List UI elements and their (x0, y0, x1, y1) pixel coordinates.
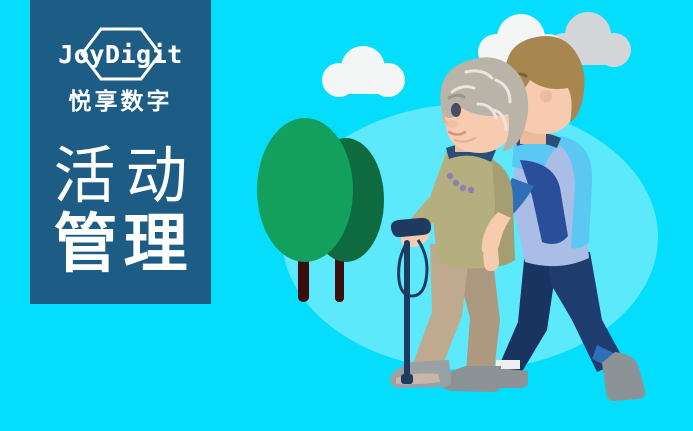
man-ear (540, 90, 552, 102)
page-title: 活动 管理 (30, 144, 211, 279)
poster-canvas: JoyDigit 悦享数字 活动 管理 (0, 0, 693, 431)
brand-chinese-name: 悦享数字 (69, 91, 173, 114)
title-panel: JoyDigit 悦享数字 活动 管理 (30, 0, 211, 304)
woman-left-hand (483, 238, 499, 271)
brand-wordmark: JoyDigit (58, 42, 182, 67)
woman-cheek (446, 120, 458, 128)
cane-handle (391, 218, 431, 237)
brand-logo: JoyDigit (46, 26, 196, 82)
cane-tip (401, 374, 413, 384)
page-title-line-1: 活动 (43, 144, 197, 208)
page-title-line-2: 管理 (48, 212, 194, 279)
woman-eye (451, 103, 461, 117)
